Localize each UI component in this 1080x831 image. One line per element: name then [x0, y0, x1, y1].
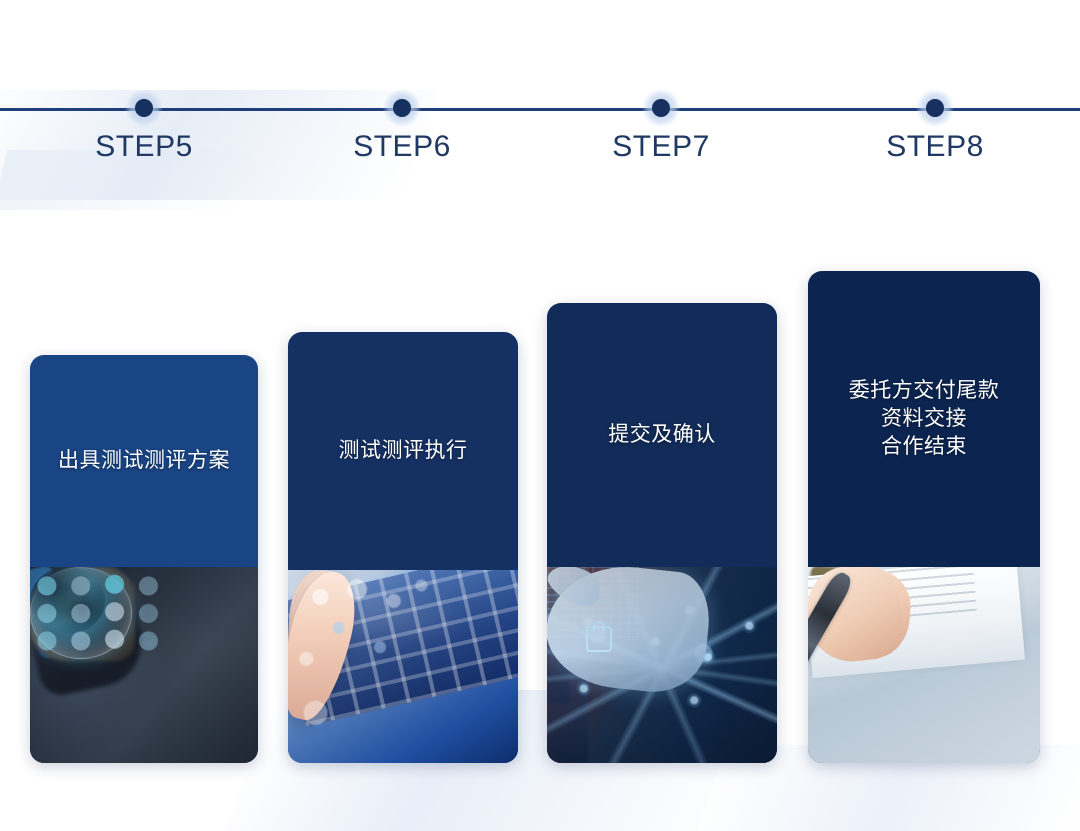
timeline-dot-icon	[926, 99, 944, 117]
timeline-dot-icon	[393, 99, 411, 117]
step-card-step5[interactable]: 出具测试测评方案	[30, 355, 258, 763]
timeline-dot-icon	[652, 99, 670, 117]
photo-vignette-overlay	[808, 567, 1040, 763]
timeline: STEP5 STEP6 STEP7 STEP8	[0, 108, 1080, 112]
step-card-step7[interactable]: 提交及确认	[547, 303, 777, 763]
step-card-header: 委托方交付尾款 资料交接 合作结束	[808, 271, 1040, 567]
step-card-step6[interactable]: 测试测评执行	[288, 332, 518, 763]
step-card-header: 提交及确认	[547, 303, 777, 567]
timeline-label-step7: STEP7	[612, 130, 710, 164]
photo-vignette-overlay	[547, 567, 777, 763]
hand-touching-network-nodes-photo	[547, 567, 777, 763]
timeline-label-step6: STEP6	[353, 130, 451, 164]
step-card-step8[interactable]: 委托方交付尾款 资料交接 合作结束	[808, 271, 1040, 763]
signing-contract-photo	[808, 567, 1040, 763]
step-card-title: 测试测评执行	[331, 437, 476, 465]
step-card-title: 委托方交付尾款 资料交接 合作结束	[841, 377, 1008, 460]
timeline-label-step8: STEP8	[886, 130, 984, 164]
photo-vignette-overlay	[30, 567, 258, 763]
timeline-dot-icon	[135, 99, 153, 117]
bokeh-particles-overlay	[288, 570, 518, 763]
step-card-title: 出具测试测评方案	[50, 447, 238, 475]
step-card-header: 测试测评执行	[288, 332, 518, 570]
infographic-stage: STEP5 STEP6 STEP7 STEP8 出具测试测评方案	[0, 0, 1080, 831]
fingers-on-glowing-keyboard-photo	[288, 570, 518, 763]
step-card-header: 出具测试测评方案	[30, 355, 258, 567]
hand-holding-digital-globe-photo	[30, 567, 258, 763]
step-card-title: 提交及确认	[600, 421, 724, 449]
timeline-label-step5: STEP5	[95, 130, 193, 164]
